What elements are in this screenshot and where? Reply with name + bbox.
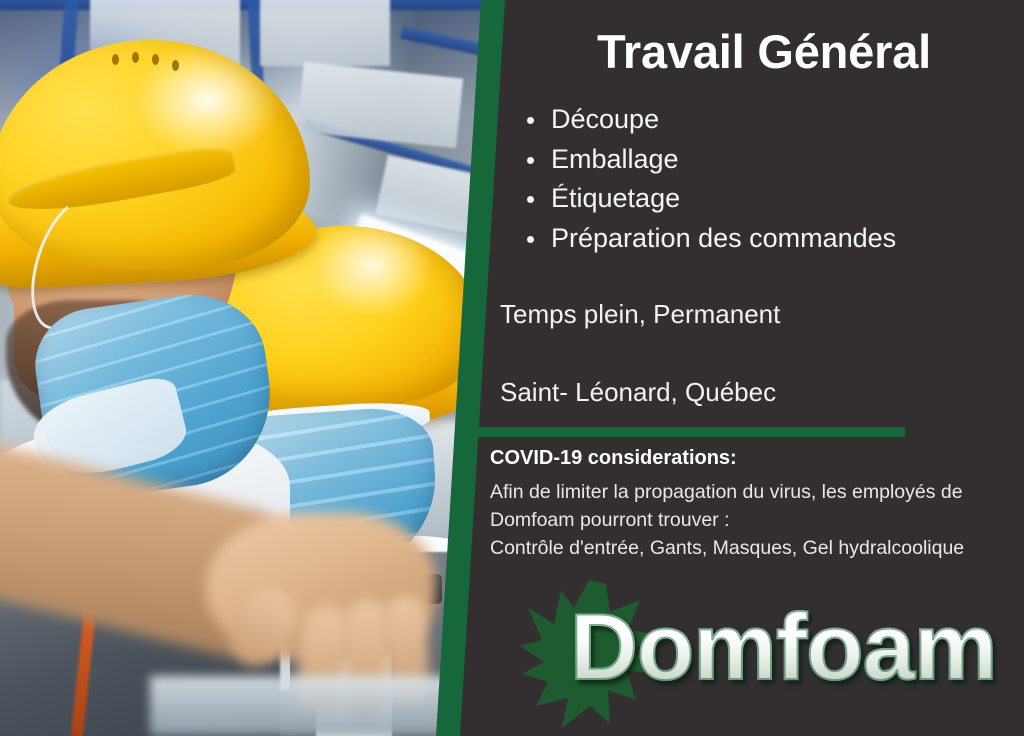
responsibilities-list: Découpe Emballage Étiquetage Préparation…	[523, 100, 896, 258]
list-item-label: Préparation des commandes	[551, 223, 896, 253]
panel-content: Travail Général Découpe Emballage Étique…	[0, 0, 1024, 736]
covid-body: Afin de limiter la propagation du virus,…	[490, 478, 1014, 562]
covid-heading: COVID-19 considerations:	[490, 447, 737, 470]
bullet-icon	[527, 117, 534, 124]
list-item: Préparation des commandes	[523, 219, 896, 259]
covid-line: Afin de limiter la propagation du virus,…	[490, 478, 1014, 506]
bullet-icon	[527, 236, 534, 243]
list-item-label: Découpe	[551, 104, 659, 134]
covid-line: Contrôle d'entrée, Gants, Masques, Gel h…	[490, 534, 1014, 562]
job-posting-poster: Travail Général Découpe Emballage Étique…	[0, 0, 1024, 736]
employment-type: Temps plein, Permanent	[500, 299, 780, 330]
section-divider	[470, 427, 905, 437]
list-item: Découpe	[523, 100, 896, 140]
list-item: Emballage	[523, 140, 896, 180]
list-item-label: Emballage	[551, 144, 679, 174]
job-location: Saint- Léonard, Québec	[500, 377, 776, 408]
bullet-icon	[527, 196, 534, 203]
company-name: Domfoam	[570, 600, 996, 694]
list-item: Étiquetage	[523, 179, 896, 219]
bullet-icon	[527, 157, 534, 164]
covid-line: Domfoam pourront trouver :	[490, 506, 1014, 534]
company-logo: Domfoam	[500, 578, 1010, 733]
page-title: Travail Général	[504, 26, 1024, 78]
list-item-label: Étiquetage	[551, 183, 680, 213]
